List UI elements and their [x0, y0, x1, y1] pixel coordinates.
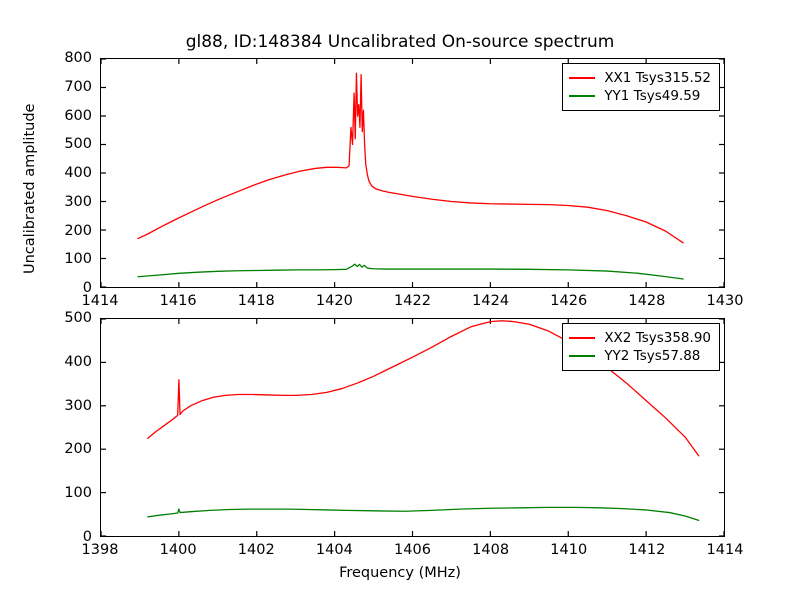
legend-bottom: XX2 Tsys358.90 YY2 Tsys57.88	[562, 323, 720, 371]
xtick-top-1416: 1416	[160, 293, 197, 309]
xtick-top-1418: 1418	[238, 293, 275, 309]
legend-swatch-xx1	[569, 77, 595, 79]
xtick-bottom-1400: 1400	[160, 542, 197, 558]
ytick-top-200: 200	[34, 223, 92, 239]
legend-entry-xx1: XX1 Tsys315.52	[569, 69, 711, 87]
legend-swatch-yy2	[569, 355, 595, 357]
legend-swatch-yy1	[569, 95, 595, 97]
figure-canvas: gl88, ID:148384 Uncalibrated On-source s…	[0, 0, 800, 600]
ytick-bottom-500: 500	[34, 310, 92, 326]
x-axis-label: Frequency (MHz)	[0, 565, 800, 581]
legend-top: XX1 Tsys315.52 YY1 Tsys49.59	[562, 63, 720, 111]
xtick-top-1422: 1422	[394, 293, 431, 309]
xtick-top-1430: 1430	[707, 293, 744, 309]
legend-entry-yy2: YY2 Tsys57.88	[569, 347, 711, 365]
series-line	[148, 507, 699, 520]
y-axis-label: Uncalibrated amplitude	[22, 104, 38, 274]
xtick-bottom-1412: 1412	[628, 542, 665, 558]
ytick-top-700: 700	[34, 79, 92, 95]
legend-entry-yy1: YY1 Tsys49.59	[569, 87, 711, 105]
ytick-bottom-200: 200	[34, 441, 92, 457]
xtick-bottom-1404: 1404	[316, 542, 353, 558]
ytick-bottom-300: 300	[34, 398, 92, 414]
chart-panel-top: XX1 Tsys315.52 YY1 Tsys49.59	[100, 58, 725, 288]
xtick-top-1420: 1420	[316, 293, 353, 309]
legend-entry-xx2: XX2 Tsys358.90	[569, 329, 711, 347]
ytick-top-800: 800	[34, 50, 92, 66]
xtick-bottom-1408: 1408	[472, 542, 509, 558]
xtick-top-1414: 1414	[82, 293, 119, 309]
xtick-top-1424: 1424	[472, 293, 509, 309]
ytick-top-600: 600	[34, 108, 92, 124]
legend-label-yy2: YY2 Tsys57.88	[604, 347, 700, 365]
ytick-top-400: 400	[34, 165, 92, 181]
xtick-bottom-1402: 1402	[238, 542, 275, 558]
xtick-bottom-1414: 1414	[707, 542, 744, 558]
legend-label-xx1: XX1 Tsys315.52	[604, 69, 711, 87]
xtick-top-1428: 1428	[628, 293, 665, 309]
xtick-bottom-1406: 1406	[394, 542, 431, 558]
series-line	[138, 264, 683, 279]
legend-label-yy1: YY1 Tsys49.59	[604, 87, 700, 105]
legend-swatch-xx2	[569, 337, 595, 339]
legend-label-xx2: XX2 Tsys358.90	[604, 329, 711, 347]
xtick-top-1426: 1426	[550, 293, 587, 309]
page-title: gl88, ID:148384 Uncalibrated On-source s…	[0, 32, 800, 52]
ytick-top-300: 300	[34, 194, 92, 210]
xtick-bottom-1398: 1398	[82, 542, 119, 558]
ytick-bottom-100: 100	[34, 485, 92, 501]
ytick-top-500: 500	[34, 136, 92, 152]
chart-panel-bottom: XX2 Tsys358.90 YY2 Tsys57.88	[100, 318, 725, 537]
ytick-top-100: 100	[34, 251, 92, 267]
ytick-bottom-400: 400	[34, 354, 92, 370]
xtick-bottom-1410: 1410	[550, 542, 587, 558]
